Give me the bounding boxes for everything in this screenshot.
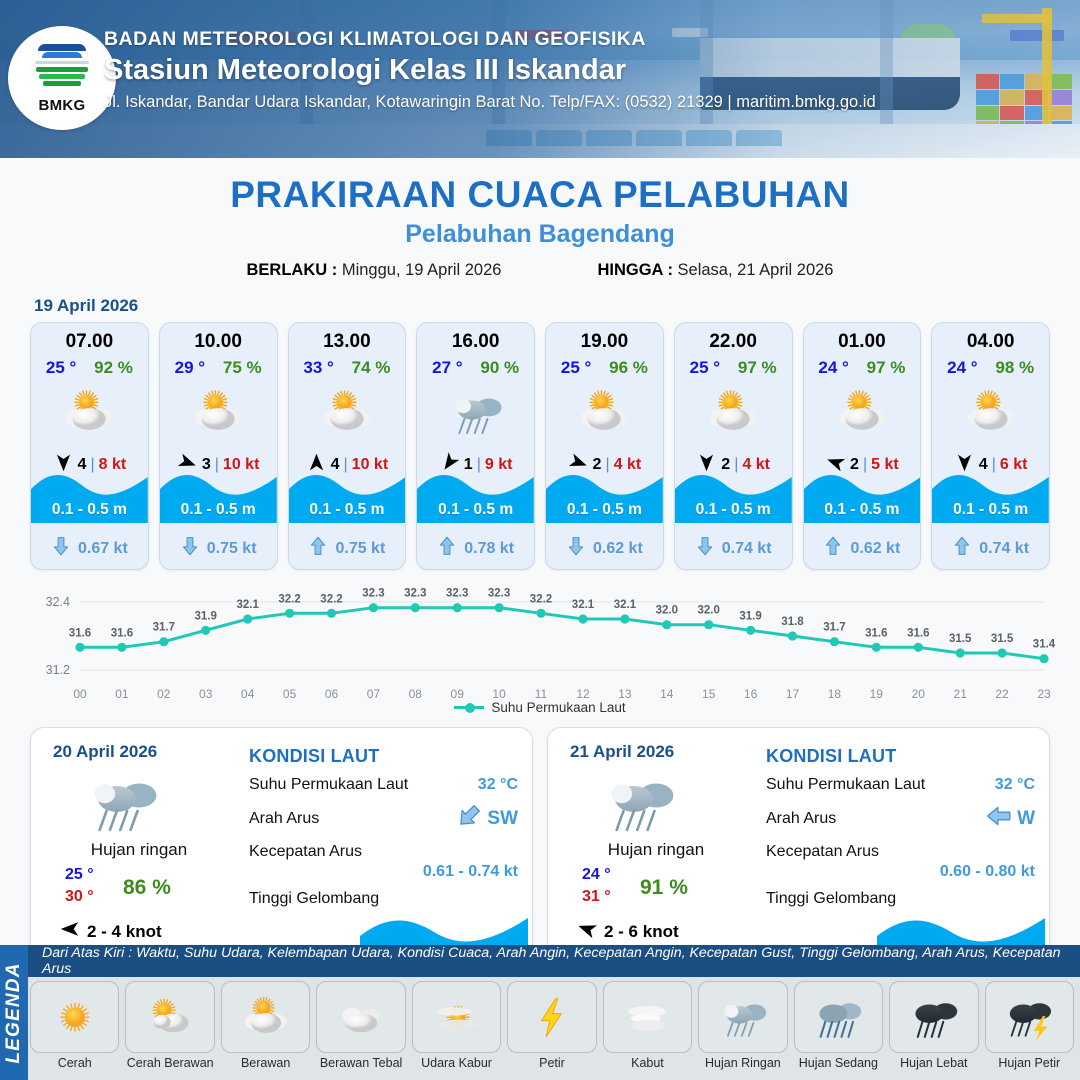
legend-item: Hujan Sedang [794,981,883,1070]
svg-text:32.3: 32.3 [404,588,426,600]
current-direction-row: Arah ArusW [766,803,1035,834]
card-wave-height: 0.1 - 0.5 m [417,501,534,519]
card-wave-height: 0.1 - 0.5 m [160,501,277,519]
header-banner: BMKG BADAN METEOROLOGI KLIMATOLOGI DAN G… [0,0,1080,158]
current-speed-label: Kecepatan Arus [249,843,362,861]
svg-text:01: 01 [115,687,129,701]
svg-text:05: 05 [283,687,297,701]
svg-text:18: 18 [828,687,842,701]
card-current-speed: 0.62 kt [850,540,900,558]
current-speed-value: 0.61 - 0.74 kt [249,863,518,881]
current-direction-row: Arah ArusSW [249,803,518,834]
card-temperature: 25 ° [690,358,720,378]
svg-text:23: 23 [1037,687,1051,701]
svg-text:32.1: 32.1 [614,599,637,611]
card-wave-height: 0.1 - 0.5 m [675,501,792,519]
legend-item: Cerah [30,981,119,1070]
hourly-date-label: 19 April 2026 [34,296,1080,316]
card-temp-humidity: 29 °75 % [160,358,277,378]
legend-sun-cloud-more-icon [221,981,310,1053]
svg-text:22: 22 [995,687,1009,701]
card-temp-humidity: 24 °97 % [804,358,921,378]
card-current-row: 0.75 kt [289,536,406,561]
legend-haze-icon [412,981,501,1053]
current-arrow-down-icon [180,536,200,561]
svg-text:17: 17 [786,687,800,701]
sst-value: 32 °C [995,776,1035,794]
svg-text:32.2: 32.2 [320,593,342,605]
daily-date: 21 April 2026 [570,742,674,762]
svg-text:14: 14 [660,687,674,701]
card-weather-icon [804,382,921,444]
svg-text:15: 15 [702,687,716,701]
current-speed-value: 0.60 - 0.80 kt [766,863,1035,881]
card-weather-icon [932,382,1049,444]
svg-text:31.4: 31.4 [1033,639,1056,651]
legend-item: Berawan Tebal [316,981,405,1070]
hourly-card[interactable]: 07.0025 °92 %4|8 kt0.1 - 0.5 m0.67 kt [30,322,149,570]
daily-condition: Hujan ringan [568,840,744,860]
wave-height-label: Tinggi Gelombang [766,890,896,908]
current-arrow-up-icon [308,536,328,561]
legend-item: Udara Kabur [412,981,501,1070]
legend-item: Hujan Lebat [889,981,978,1070]
card-humidity: 97 % [867,358,906,378]
current-direction-group: W [986,803,1035,834]
legend-note: Dari Atas Kiri : Waktu, Suhu Udara, Kele… [28,945,1080,977]
current-arrow-up-icon [437,536,457,561]
card-temp-humidity: 25 °96 % [546,358,663,378]
hourly-card[interactable]: 13.0033 °74 %4|10 kt0.1 - 0.5 m0.75 kt [288,322,407,570]
svg-text:16: 16 [744,687,758,701]
legend-item: Cerah Berawan [125,981,214,1070]
card-time: 16.00 [417,331,534,353]
svg-text:31.9: 31.9 [195,610,217,622]
card-temp-humidity: 33 °74 % [289,358,406,378]
legend-item-label: Cerah Berawan [125,1056,214,1070]
card-humidity: 75 % [223,358,262,378]
card-humidity: 98 % [995,358,1034,378]
card-time: 13.00 [289,331,406,353]
svg-text:06: 06 [325,687,339,701]
svg-text:02: 02 [157,687,171,701]
card-temperature: 24 ° [818,358,848,378]
hingga-value: Selasa, 21 April 2026 [678,261,834,279]
sst-label: Suhu Permukaan Laut [766,776,925,794]
current-speed-row: Kecepatan Arus [766,843,1035,861]
daily-weather-icon [596,768,682,842]
header-text-block: BADAN METEOROLOGI KLIMATOLOGI DAN GEOFIS… [104,28,876,112]
card-current-speed: 0.75 kt [207,540,257,558]
card-time: 19.00 [546,331,663,353]
daily-temp-min: 24 ° [582,866,611,884]
wave-height-row: Tinggi Gelombang [766,890,1035,908]
sst-row: Suhu Permukaan Laut32 °C [766,776,1035,794]
header-address: Jl. Iskandar, Bandar Udara Iskandar, Kot… [104,93,876,112]
legend-item-label: Berawan [221,1056,310,1070]
wind-arrow-left-up-icon [576,918,598,945]
card-time: 22.00 [675,331,792,353]
daily-sea-conditions: KONDISI LAUTSuhu Permukaan Laut32 °CArah… [249,746,518,908]
card-current-row: 0.74 kt [932,536,1049,561]
header-station-name: Stasiun Meteorologi Kelas III Iskandar [104,54,876,87]
title-section: PRAKIRAAN CUACA PELABUHAN Pelabuhan Bage… [0,174,1080,280]
legend-fog-icon [603,981,692,1053]
svg-text:08: 08 [409,687,423,701]
wave-height-label: Tinggi Gelombang [249,890,379,908]
current-arrow-left-icon [986,803,1012,834]
current-arrow-up-icon [823,536,843,561]
card-weather-icon [546,382,663,444]
card-weather-icon [289,382,406,444]
daily-temp-block: 24 °31 ° [582,866,611,906]
svg-text:32.1: 32.1 [237,599,260,611]
card-humidity: 92 % [94,358,133,378]
wind-arrow-left-icon [59,918,81,945]
current-direction-label: Arah Arus [249,810,319,828]
svg-text:10: 10 [492,687,506,701]
card-current-speed: 0.78 kt [464,540,514,558]
legend-item-label: Hujan Sedang [794,1056,883,1070]
legend-item-label: Udara Kabur [412,1056,501,1070]
card-time: 01.00 [804,331,921,353]
hourly-card[interactable]: 16.0027 °90 %1|9 kt0.1 - 0.5 m0.78 kt [416,322,535,570]
card-current-speed: 0.67 kt [78,540,128,558]
page-subtitle: Pelabuhan Bagendang [0,220,1080,249]
current-speed-label: Kecepatan Arus [766,843,879,861]
hourly-card[interactable]: 04.0024 °98 %4|6 kt0.1 - 0.5 m0.74 kt [931,322,1050,570]
hingga-label: HINGGA : [597,261,672,279]
current-direction-value: SW [487,808,518,830]
current-arrow-down-icon [695,536,715,561]
sst-row: Suhu Permukaan Laut32 °C [249,776,518,794]
current-direction-label: Arah Arus [766,810,836,828]
legend-side-label: LEGENDA [3,962,25,1063]
svg-text:04: 04 [241,687,255,701]
wave-height-row: Tinggi Gelombang [249,890,518,908]
bmkg-logo-mark [31,42,93,96]
daily-sea-conditions: KONDISI LAUTSuhu Permukaan Laut32 °CArah… [766,746,1035,908]
berlaku-label: BERLAKU : [247,261,338,279]
card-temperature: 25 ° [46,358,76,378]
svg-text:32.4: 32.4 [46,595,70,609]
legend-light-rain-icon [698,981,787,1053]
svg-text:31.6: 31.6 [865,627,887,639]
svg-text:07: 07 [367,687,381,701]
daily-temp-max: 31 ° [582,888,611,906]
svg-text:32.3: 32.3 [446,588,468,600]
card-weather-icon [160,382,277,444]
svg-text:31.6: 31.6 [111,627,133,639]
svg-text:12: 12 [576,687,590,701]
card-temp-humidity: 25 °92 % [31,358,148,378]
header-organization: BADAN METEOROLOGI KLIMATOLOGI DAN GEOFIS… [104,28,876,51]
card-current-row: 0.75 kt [160,536,277,561]
card-current-row: 0.67 kt [31,536,148,561]
svg-text:20: 20 [912,687,926,701]
sea-conditions-title: KONDISI LAUT [766,746,1035,767]
hourly-card[interactable]: 22.0025 °97 %2|4 kt0.1 - 0.5 m0.74 kt [674,322,793,570]
svg-text:31.5: 31.5 [991,633,1014,645]
svg-text:32.3: 32.3 [362,588,384,600]
hourly-card[interactable]: 01.0024 °97 %2|5 kt0.1 - 0.5 m0.62 kt [803,322,922,570]
card-temperature: 24 ° [947,358,977,378]
svg-text:00: 00 [73,687,87,701]
current-arrow-down-left-icon [456,803,482,834]
card-temp-humidity: 24 °98 % [932,358,1049,378]
card-temperature: 33 ° [303,358,333,378]
svg-text:21: 21 [954,687,968,701]
svg-text:32.3: 32.3 [488,588,510,600]
legend-item-label: Kabut [603,1056,692,1070]
card-wave-height: 0.1 - 0.5 m [31,501,148,519]
legend-item: Hujan Petir [985,981,1074,1070]
card-time: 10.00 [160,331,277,353]
svg-text:19: 19 [870,687,884,701]
legend-lightning-icon [507,981,596,1053]
validity-row: BERLAKU : Minggu, 19 April 2026 HINGGA :… [0,261,1080,280]
card-temp-humidity: 27 °90 % [417,358,534,378]
daily-humidity: 86 % [123,876,171,900]
sst-label: Suhu Permukaan Laut [249,776,408,794]
card-current-row: 0.78 kt [417,536,534,561]
card-weather-icon [417,382,534,444]
card-humidity: 90 % [480,358,519,378]
chart-legend-marker-icon [454,706,484,709]
hingga-group: HINGGA : Selasa, 21 April 2026 [597,261,833,280]
daily-temp-min: 25 ° [65,866,94,884]
berlaku-group: BERLAKU : Minggu, 19 April 2026 [247,261,502,280]
legend-side-bar: LEGENDA [0,945,28,1080]
legend-item-label: Cerah [30,1056,119,1070]
card-current-speed: 0.75 kt [335,540,385,558]
daily-condition: Hujan ringan [51,840,227,860]
card-current-speed: 0.62 kt [593,540,643,558]
legend-item-label: Petir [507,1056,596,1070]
svg-text:31.8: 31.8 [781,616,804,628]
card-humidity: 96 % [609,358,648,378]
sst-chart: 32.431.231.60031.60131.70231.90332.10432… [18,584,1062,696]
svg-text:13: 13 [618,687,632,701]
bmkg-logo-text: BMKG [38,97,85,114]
card-current-speed: 0.74 kt [722,540,772,558]
daily-temp-max: 30 ° [65,888,94,906]
sea-conditions-title: KONDISI LAUT [249,746,518,767]
legend-item-label: Hujan Ringan [698,1056,787,1070]
card-time: 07.00 [31,331,148,353]
legend-footer: LEGENDA Dari Atas Kiri : Waktu, Suhu Uda… [0,945,1080,1080]
card-time: 04.00 [932,331,1049,353]
legend-sun-icon [30,981,119,1053]
daily-date: 20 April 2026 [53,742,157,762]
svg-text:31.5: 31.5 [949,633,972,645]
current-direction-value: W [1017,808,1035,830]
card-current-speed: 0.74 kt [979,540,1029,558]
svg-text:31.6: 31.6 [907,627,929,639]
card-temperature: 25 ° [561,358,591,378]
card-weather-icon [31,382,148,444]
hourly-card[interactable]: 19.0025 °96 %2|4 kt0.1 - 0.5 m0.62 kt [545,322,664,570]
hourly-cards-row: 07.0025 °92 %4|8 kt0.1 - 0.5 m0.67 kt10.… [0,322,1080,570]
card-wave-height: 0.1 - 0.5 m [932,501,1049,519]
svg-text:31.2: 31.2 [46,663,70,677]
svg-text:31.6: 31.6 [69,627,91,639]
legend-item-label: Hujan Lebat [889,1056,978,1070]
card-humidity: 97 % [738,358,777,378]
bmkg-logo: BMKG [8,26,116,130]
legend-item: Kabut [603,981,692,1070]
berlaku-value: Minggu, 19 April 2026 [342,261,502,279]
daily-wind-range: 2 - 4 knot [87,922,162,942]
card-wave-height: 0.1 - 0.5 m [546,501,663,519]
current-arrow-down-icon [566,536,586,561]
current-arrow-up-icon [952,536,972,561]
legend-moderate-rain-icon [794,981,883,1053]
svg-text:32.1: 32.1 [572,599,595,611]
daily-panel[interactable]: 20 April 2026Hujan ringan25 °30 °86 %2 -… [30,727,533,979]
svg-text:32.0: 32.0 [656,605,678,617]
legend-thunderstorm-icon [985,981,1074,1053]
legend-item: Hujan Ringan [698,981,787,1070]
daily-wind-row: 2 - 4 knot [59,918,162,945]
hourly-card[interactable]: 10.0029 °75 %3|10 kt0.1 - 0.5 m0.75 kt [159,322,278,570]
card-wave-height: 0.1 - 0.5 m [289,501,406,519]
current-direction-group: SW [456,803,518,834]
legend-item-label: Berawan Tebal [316,1056,405,1070]
daily-temp-block: 25 °30 ° [65,866,94,906]
card-temperature: 29 ° [175,358,205,378]
svg-text:32.2: 32.2 [278,593,300,605]
card-current-row: 0.74 kt [675,536,792,561]
legend-item: Berawan [221,981,310,1070]
current-speed-row: Kecepatan Arus [249,843,518,861]
legend-sun-cloud-icon [125,981,214,1053]
svg-text:31.7: 31.7 [823,622,845,634]
current-arrow-down-icon [51,536,71,561]
card-humidity: 74 % [352,358,391,378]
card-current-row: 0.62 kt [804,536,921,561]
legend-item: Petir [507,981,596,1070]
svg-text:31.7: 31.7 [153,622,175,634]
page-title: PRAKIRAAN CUACA PELABUHAN [0,174,1080,216]
daily-humidity: 91 % [640,876,688,900]
daily-weather-icon [79,768,165,842]
svg-text:11: 11 [535,687,548,701]
card-temperature: 27 ° [432,358,462,378]
svg-text:32.2: 32.2 [530,593,552,605]
legend-clouds-icon [316,981,405,1053]
svg-text:31.9: 31.9 [739,610,761,622]
legend-items-row: CerahCerah BerawanBerawanBerawan TebalUd… [30,981,1074,1070]
daily-panels-row: 20 April 2026Hujan ringan25 °30 °86 %2 -… [0,715,1080,979]
legend-item-label: Hujan Petir [985,1056,1074,1070]
daily-panel[interactable]: 21 April 2026Hujan ringan24 °31 °91 %2 -… [547,727,1050,979]
card-weather-icon [675,382,792,444]
card-temp-humidity: 25 °97 % [675,358,792,378]
svg-text:09: 09 [451,687,465,701]
card-wave-height: 0.1 - 0.5 m [804,501,921,519]
legend-heavy-rain-icon [889,981,978,1053]
svg-text:03: 03 [199,687,213,701]
daily-wind-row: 2 - 6 knot [576,918,679,945]
sst-value: 32 °C [478,776,518,794]
daily-wind-range: 2 - 6 knot [604,922,679,942]
card-current-row: 0.62 kt [546,536,663,561]
svg-text:32.0: 32.0 [698,605,720,617]
